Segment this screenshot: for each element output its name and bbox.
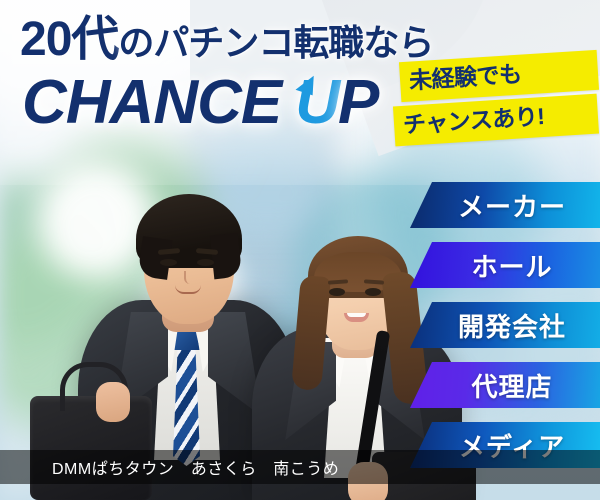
category-button-maker[interactable]: メーカー xyxy=(410,182,600,228)
category-button-list: メーカー ホール 開発会社 代理店 メディア xyxy=(410,182,600,482)
category-label-agency: 代理店 xyxy=(457,367,552,404)
category-button-hall[interactable]: ホール xyxy=(410,242,600,288)
logo-letter-p: P xyxy=(338,68,378,137)
chance-up-logo: CHANCEUP xyxy=(22,72,378,134)
category-button-development[interactable]: 開発会社 xyxy=(410,302,600,348)
recruitment-banner[interactable]: 20代のパチンコ転職なら CHANCEUP 未経験でも チャンスあり! メーカー… xyxy=(0,0,600,500)
logo-word-up: UP xyxy=(295,72,378,134)
female-eye-right xyxy=(365,288,381,296)
badge-line-2: チャンスあり! xyxy=(393,94,599,147)
category-label-maker: メーカー xyxy=(444,187,566,224)
male-eye-left xyxy=(160,259,177,266)
headline-age: 20代 xyxy=(20,13,118,66)
male-eye-right xyxy=(197,259,214,266)
category-button-agency[interactable]: 代理店 xyxy=(410,362,600,408)
male-briefcase xyxy=(30,396,152,500)
headline-text: 20代のパチンコ転職なら xyxy=(20,16,433,64)
male-hair xyxy=(136,194,242,268)
male-nose xyxy=(184,271,195,284)
credit-text: DMMぱちタウン あさくら 南こうめ xyxy=(0,455,339,479)
credit-bar: DMMぱちタウン あさくら 南こうめ xyxy=(0,450,600,484)
logo-word-chance: CHANCE xyxy=(22,68,281,137)
female-eye-left xyxy=(329,288,345,296)
male-hand xyxy=(96,382,130,422)
headline-rest: のパチンコ転職なら xyxy=(118,22,433,63)
highlight-badge: 未経験でも チャンスあり! xyxy=(398,56,598,140)
category-label-hall: ホール xyxy=(457,247,552,284)
category-label-development: 開発会社 xyxy=(444,307,566,344)
